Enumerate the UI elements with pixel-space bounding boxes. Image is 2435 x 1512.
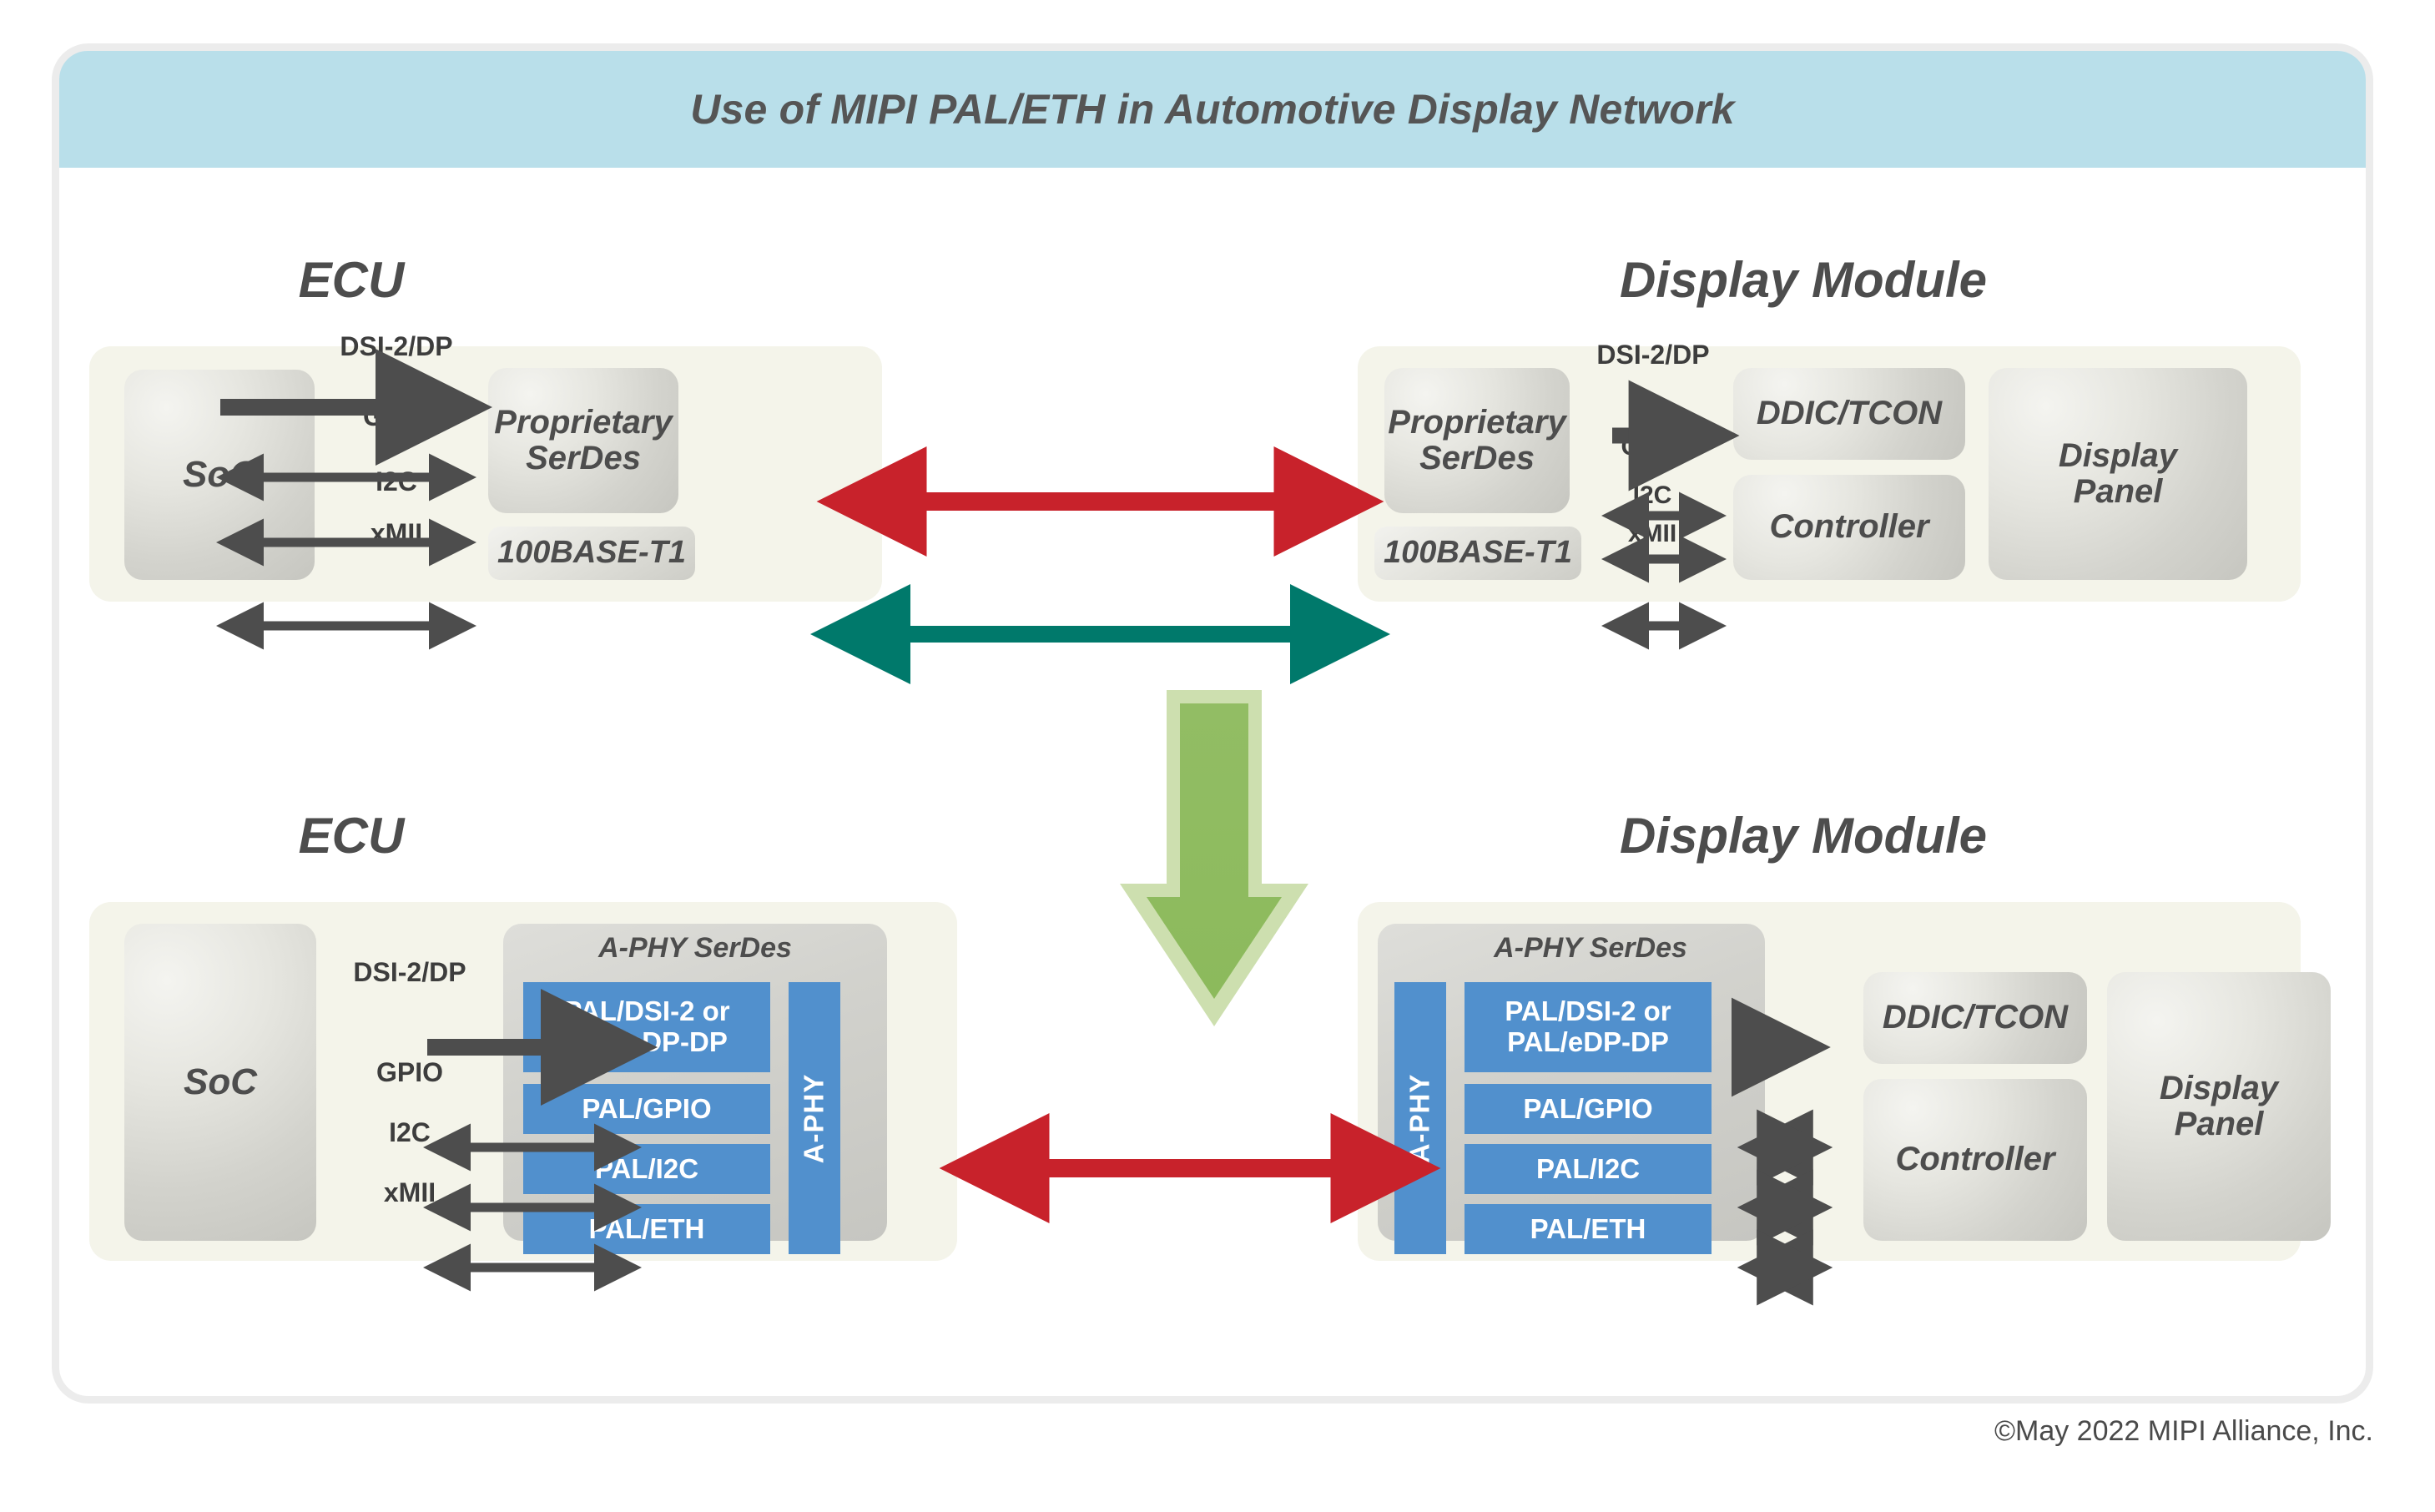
box-top-ecu-100base-t1: 100BASE-T1 xyxy=(488,527,695,580)
label-aphy-serdes-title: A-PHY SerDes xyxy=(503,932,887,965)
serdes-label-line1: Proprietary xyxy=(1388,405,1565,441)
serdes-label-line2: SerDes xyxy=(526,441,641,476)
block-pal-eth: PAL/ETH xyxy=(1465,1204,1712,1254)
diagram-root: Use of MIPI PAL/ETH in Automotive Displa… xyxy=(0,0,2435,1512)
aphy-label: A-PHY xyxy=(1405,1073,1436,1163)
label-top-display-gpio: GPIO xyxy=(1581,433,1723,461)
label-aphy-serdes-title: A-PHY SerDes xyxy=(1378,932,1765,965)
label-top-display-i2c: I2C xyxy=(1581,481,1723,510)
box-top-display-100base-t1: 100BASE-T1 xyxy=(1374,527,1581,580)
block-aphy: A-PHY xyxy=(1394,982,1446,1254)
serdes-label-line2: SerDes xyxy=(1419,441,1535,476)
aphy-label: A-PHY xyxy=(799,1073,830,1163)
box-top-ecu-soc: SoC xyxy=(124,370,315,580)
block-pal-gpio: PAL/GPIO xyxy=(523,1084,770,1134)
box-bottom-ecu-soc: SoC xyxy=(124,924,316,1241)
diagram-frame: Use of MIPI PAL/ETH in Automotive Displa… xyxy=(52,43,2373,1404)
label-top-ecu-dsi2dp: DSI-2/DP xyxy=(305,331,488,362)
label-top-ecu-i2c: I2C xyxy=(305,466,488,497)
block-pal-eth: PAL/ETH xyxy=(523,1204,770,1254)
panel-top-ecu: SoC Proprietary SerDes 100BASE-T1 DSI-2/… xyxy=(89,346,882,602)
page-title: Use of MIPI PAL/ETH in Automotive Displa… xyxy=(690,85,1735,134)
heading-bottom-display: Display Module xyxy=(1436,807,2170,864)
label-top-ecu-gpio: GPIO xyxy=(305,401,488,432)
container-bottom-display-aphy-serdes: A-PHY SerDes A-PHY PAL/DSI-2 or PAL/eDP-… xyxy=(1378,924,1765,1241)
label-bottom-ecu-gpio: GPIO xyxy=(316,1057,503,1088)
pal-dsi2-line1: PAL/DSI-2 or xyxy=(563,996,729,1027)
block-pal-dsi2-edp: PAL/DSI-2 or PAL/eDP-DP xyxy=(523,982,770,1072)
label-top-display-dsi2dp: DSI-2/DP xyxy=(1570,340,1737,370)
display-panel-line2: Panel xyxy=(2074,474,2163,510)
block-pal-i2c: PAL/I2C xyxy=(523,1144,770,1194)
label-top-display-xmii: xMII xyxy=(1581,520,1723,548)
box-bottom-display-controller: Controller xyxy=(1863,1079,2087,1241)
box-top-ecu-serdes: Proprietary SerDes xyxy=(488,368,678,513)
panel-bottom-ecu: SoC A-PHY SerDes PAL/DSI-2 or PAL/eDP-DP… xyxy=(89,902,957,1261)
label-bottom-ecu-i2c: I2C xyxy=(316,1117,503,1148)
panel-top-display: Proprietary SerDes 100BASE-T1 DDIC/TCON … xyxy=(1358,346,2301,602)
container-bottom-ecu-aphy-serdes: A-PHY SerDes PAL/DSI-2 or PAL/eDP-DP PAL… xyxy=(503,924,887,1241)
display-panel-line1: Display xyxy=(2059,438,2177,474)
box-top-display-panel: Display Panel xyxy=(1989,368,2247,580)
box-top-display-serdes: Proprietary SerDes xyxy=(1384,368,1570,513)
label-top-ecu-xmii: xMII xyxy=(305,518,488,549)
display-panel-line2: Panel xyxy=(2175,1106,2264,1142)
label-bottom-ecu-dsi2dp: DSI-2/DP xyxy=(316,957,503,988)
serdes-label-line1: Proprietary xyxy=(494,405,672,441)
display-panel-line1: Display xyxy=(2160,1071,2278,1106)
pal-dsi2-line2: PAL/eDP-DP xyxy=(1505,1027,1671,1058)
heading-bottom-ecu: ECU xyxy=(193,807,510,864)
title-bar: Use of MIPI PAL/ETH in Automotive Displa… xyxy=(59,51,2366,168)
block-pal-i2c: PAL/I2C xyxy=(1465,1144,1712,1194)
block-pal-dsi2-edp: PAL/DSI-2 or PAL/eDP-DP xyxy=(1465,982,1712,1072)
heading-top-display: Display Module xyxy=(1436,251,2170,309)
box-top-display-ddic: DDIC/TCON xyxy=(1733,368,1965,460)
heading-top-ecu: ECU xyxy=(193,251,510,309)
panel-bottom-display: A-PHY SerDes A-PHY PAL/DSI-2 or PAL/eDP-… xyxy=(1358,902,2301,1261)
box-bottom-display-panel: Display Panel xyxy=(2107,972,2331,1241)
pal-dsi2-line2: PAL/eDP-DP xyxy=(563,1027,729,1058)
block-aphy: A-PHY xyxy=(789,982,840,1254)
label-bottom-ecu-xmii: xMII xyxy=(316,1177,503,1208)
block-pal-gpio: PAL/GPIO xyxy=(1465,1084,1712,1134)
box-bottom-display-ddic: DDIC/TCON xyxy=(1863,972,2087,1064)
box-top-display-controller: Controller xyxy=(1733,475,1965,580)
copyright-text: ©May 2022 MIPI Alliance, Inc. xyxy=(1994,1415,2373,1448)
pal-dsi2-line1: PAL/DSI-2 or xyxy=(1505,996,1671,1027)
